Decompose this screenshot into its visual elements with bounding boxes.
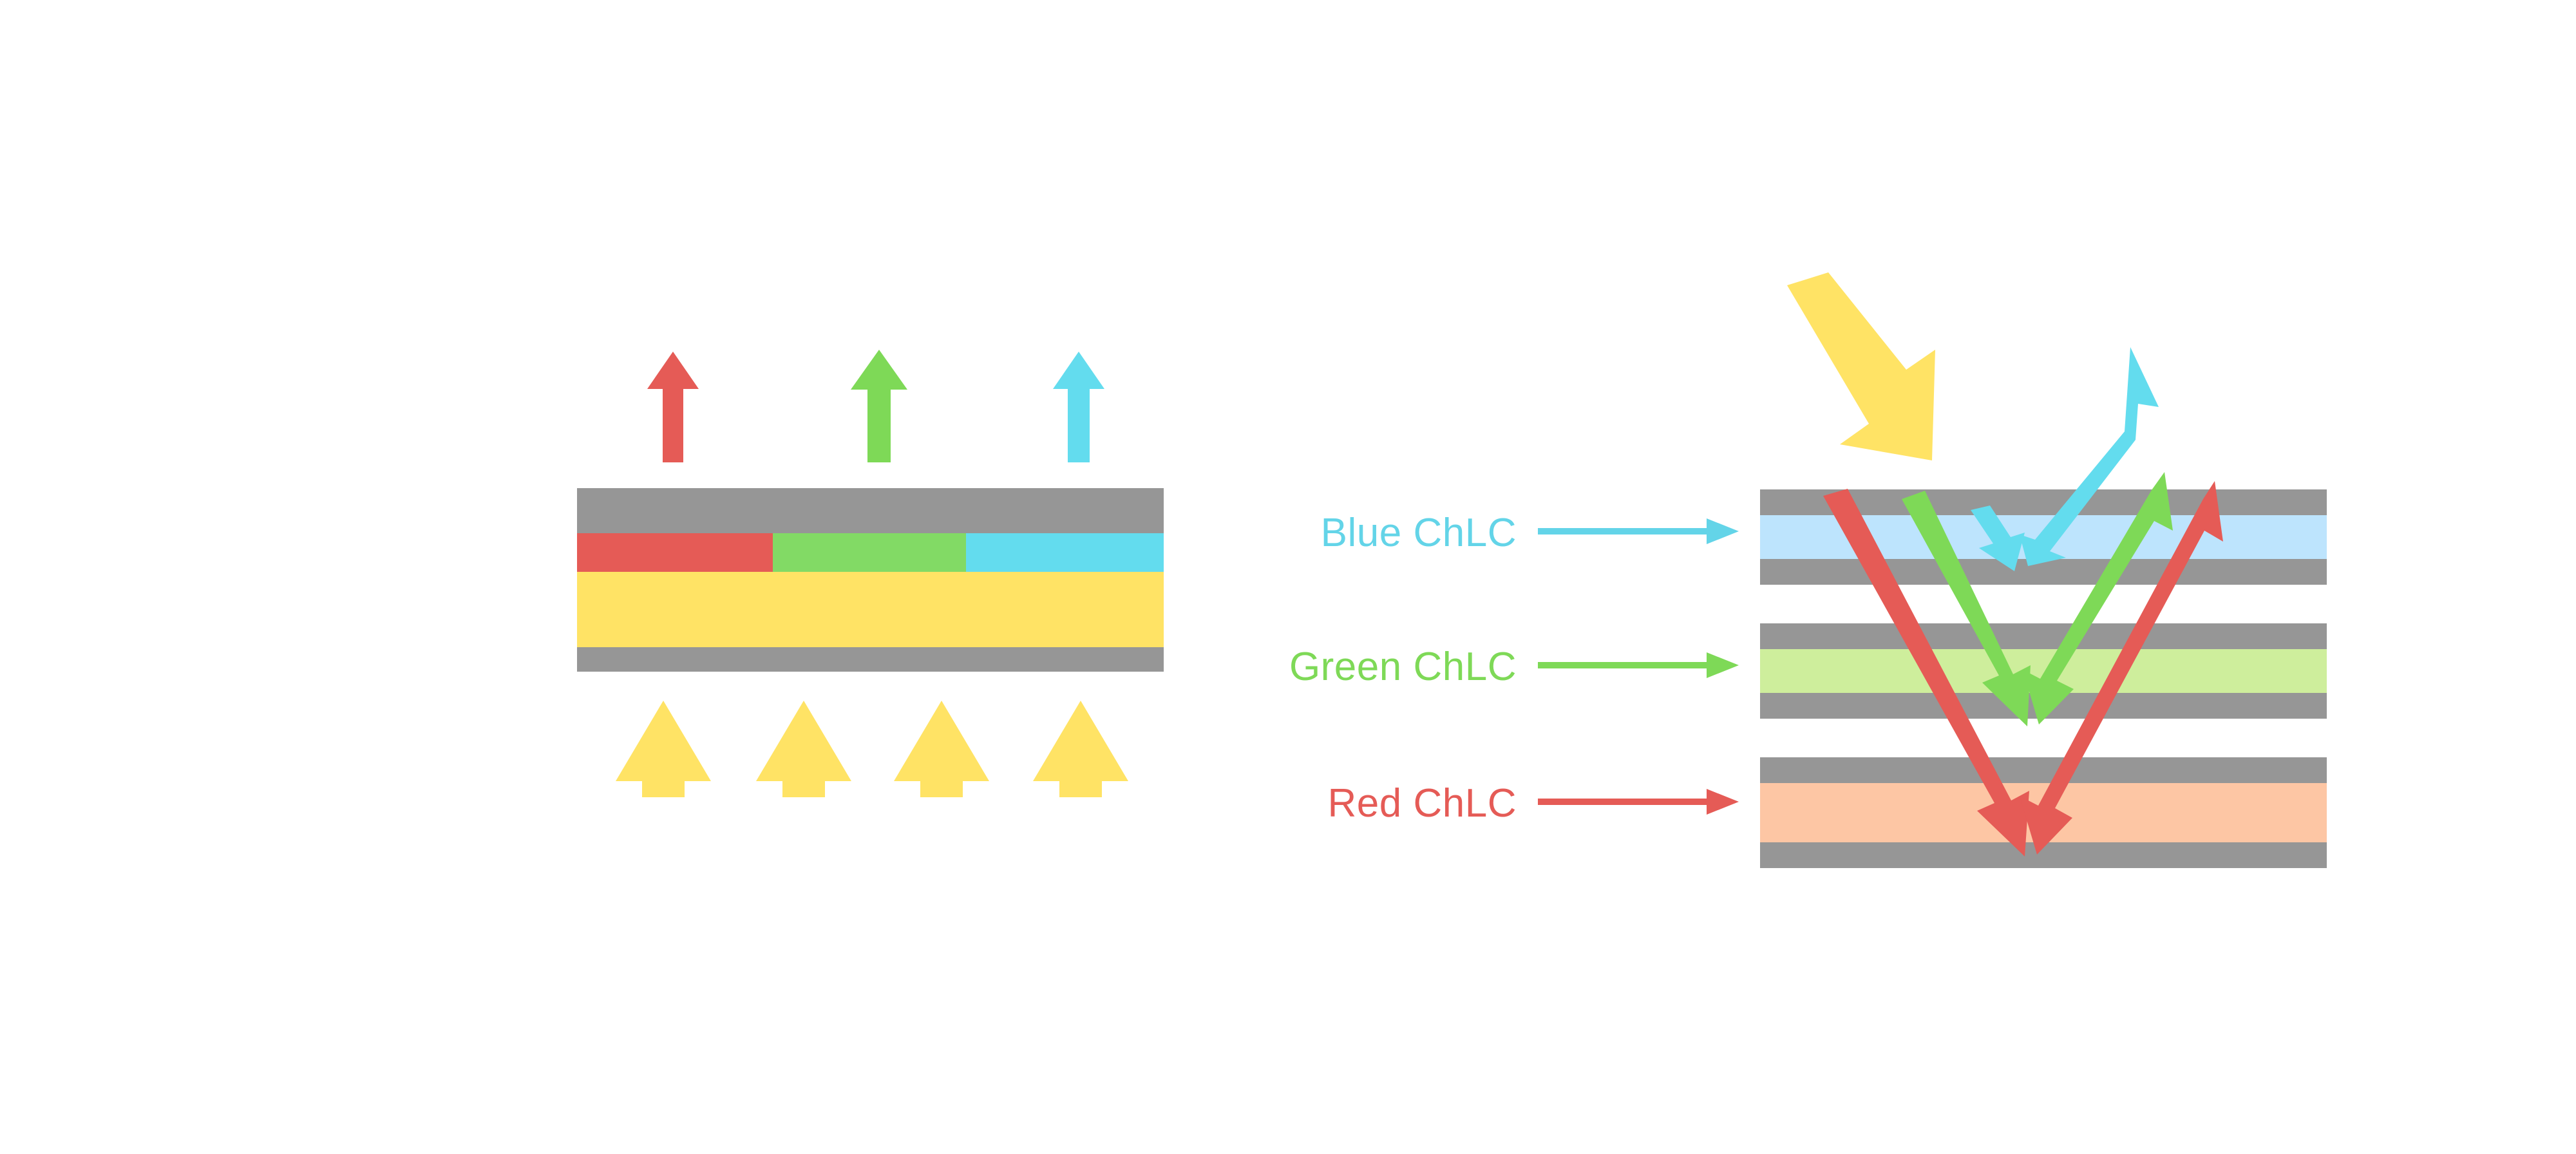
red-emitted-arrow [647, 352, 699, 462]
left-bottom-electrode [577, 647, 1164, 672]
backlight-layer [577, 572, 1164, 647]
green-emitted-arrow [851, 350, 907, 462]
green-label-arrow [1538, 652, 1739, 678]
left-top-electrode [577, 488, 1164, 533]
right-panel: Blue ChLC Green ChLC Red ChLC [1289, 272, 2327, 868]
green-cell-top-electrode [1760, 623, 2327, 649]
left-stack [577, 488, 1164, 672]
backlight-arrow-1 [616, 701, 711, 797]
backlight-arrows-group [616, 701, 1128, 797]
blue-cell-bottom-electrode [1760, 559, 2327, 585]
blue-emitted-arrow [1053, 352, 1104, 462]
label-arrows-group [1538, 518, 1739, 815]
left-panel [577, 350, 1164, 797]
red-chlc-label: Red ChLC [1328, 781, 1517, 826]
red-filter-segment [577, 533, 773, 572]
red-cell-top-electrode [1760, 757, 2327, 783]
diagram-canvas: Blue ChLC Green ChLC Red ChLC [0, 0, 2576, 1154]
red-label-arrow [1538, 789, 1739, 815]
backlight-arrow-3 [894, 701, 989, 797]
blue-label-arrow [1538, 518, 1739, 544]
green-chlc-label: Green ChLC [1289, 645, 1517, 689]
green-filter-segment [773, 533, 966, 572]
emitted-arrows-group [647, 350, 1104, 462]
diagram-svg: Blue ChLC Green ChLC Red ChLC [0, 0, 2576, 1154]
incident-white-light-arrow [1787, 272, 1935, 460]
blue-filter-segment [966, 533, 1164, 572]
blue-chlc-label: Blue ChLC [1321, 511, 1517, 555]
backlight-arrow-2 [756, 701, 851, 797]
backlight-arrow-4 [1033, 701, 1128, 797]
